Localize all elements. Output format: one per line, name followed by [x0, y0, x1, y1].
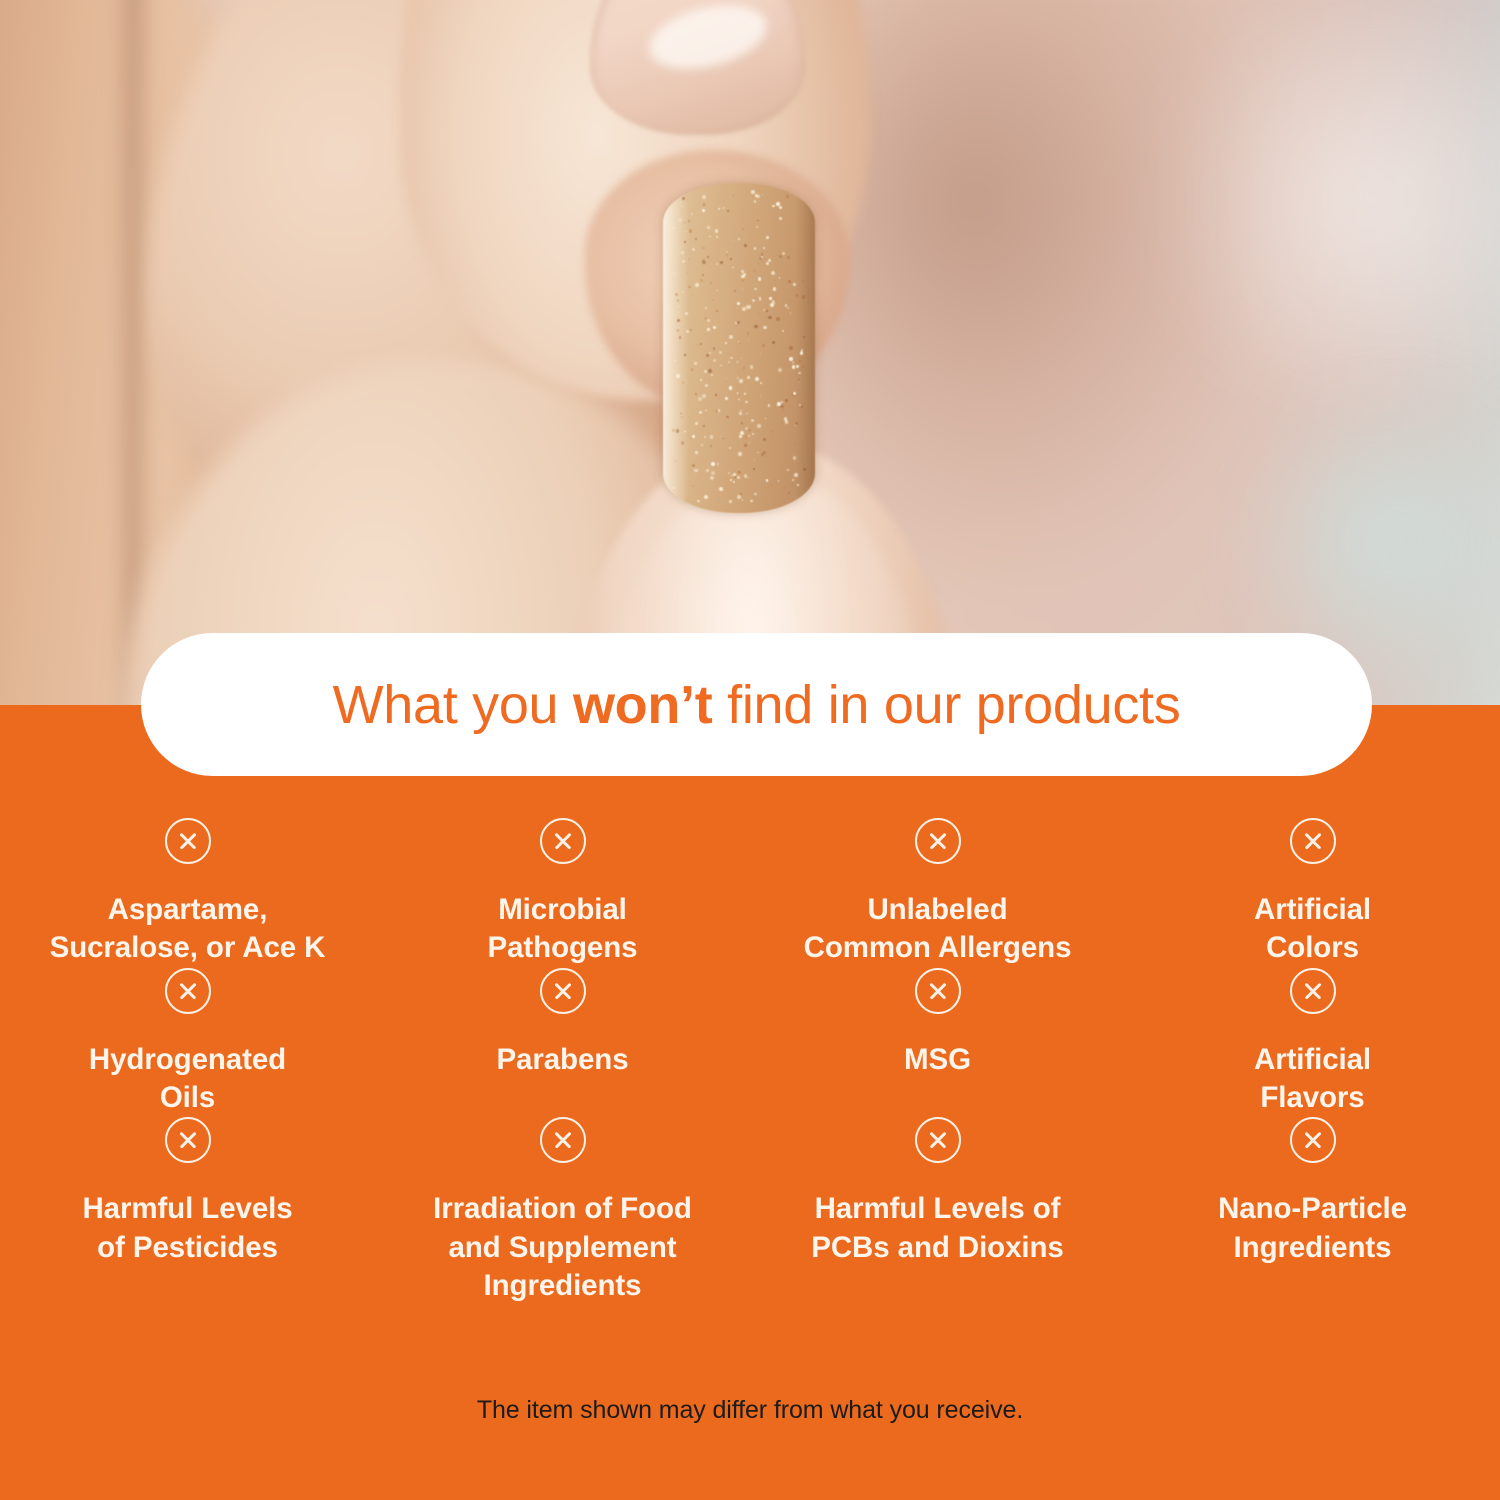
exclusion-label: Artificial Flavors	[1254, 1041, 1371, 1118]
circle-x-icon	[165, 1117, 211, 1163]
headline-emphasis: won’t	[573, 675, 712, 735]
tablet-right-shadow	[795, 187, 815, 509]
exclusion-item: Nano-Particle Ingredients	[1125, 1117, 1500, 1305]
exclusion-item: Artificial Flavors	[1125, 968, 1500, 1118]
exclusion-label: Irradiation of Food and Supplement Ingre…	[433, 1190, 692, 1305]
circle-x-icon	[915, 818, 961, 864]
page-title: What you won’t find in our products	[333, 678, 1181, 732]
circle-x-icon	[165, 968, 211, 1014]
exclusion-item: Harmful Levels of Pesticides	[0, 1117, 375, 1305]
headline-part-2: find in our products	[712, 675, 1180, 735]
exclusion-label: Hydrogenated Oils	[89, 1041, 286, 1118]
headline-pill: What you won’t find in our products	[141, 633, 1372, 776]
exclusion-item: Artificial Colors	[1125, 818, 1500, 968]
circle-x-icon	[915, 968, 961, 1014]
circle-x-icon	[1290, 968, 1336, 1014]
exclusion-item: Hydrogenated Oils	[0, 968, 375, 1118]
exclusion-label: Unlabeled Common Allergens	[804, 891, 1072, 968]
exclusion-item: Unlabeled Common Allergens	[750, 818, 1125, 968]
circle-x-icon	[540, 818, 586, 864]
hero-photo	[0, 0, 1500, 712]
circle-x-icon	[540, 968, 586, 1014]
exclusion-label: Microbial Pathogens	[488, 891, 638, 968]
exclusion-label: Artificial Colors	[1254, 891, 1371, 968]
circle-x-icon	[1290, 1117, 1336, 1163]
headline-part-1: What you	[333, 675, 573, 735]
exclusion-item: Harmful Levels of PCBs and Dioxins	[750, 1117, 1125, 1305]
circle-x-icon	[540, 1117, 586, 1163]
circle-x-icon	[165, 818, 211, 864]
supplement-tablet	[663, 183, 815, 513]
exclusion-item: Irradiation of Food and Supplement Ingre…	[375, 1117, 750, 1305]
exclusion-label: Harmful Levels of PCBs and Dioxins	[811, 1190, 1063, 1267]
circle-x-icon	[915, 1117, 961, 1163]
exclusion-label: Aspartame, Sucralose, or Ace K	[50, 891, 326, 968]
exclusion-item: Microbial Pathogens	[375, 818, 750, 968]
tablet-left-edge	[663, 189, 689, 507]
exclusion-item: Aspartame, Sucralose, or Ace K	[0, 818, 375, 968]
disclaimer-text: The item shown may differ from what you …	[0, 1396, 1500, 1425]
exclusion-item: MSG	[750, 968, 1125, 1118]
exclusion-label: MSG	[904, 1041, 971, 1079]
exclusion-item: Parabens	[375, 968, 750, 1118]
exclusion-label: Harmful Levels of Pesticides	[82, 1190, 292, 1267]
exclusions-grid: Aspartame, Sucralose, or Ace K Microbial…	[0, 818, 1500, 1305]
exclusion-label: Parabens	[496, 1041, 628, 1079]
circle-x-icon	[1290, 818, 1336, 864]
exclusion-label: Nano-Particle Ingredients	[1218, 1190, 1407, 1267]
